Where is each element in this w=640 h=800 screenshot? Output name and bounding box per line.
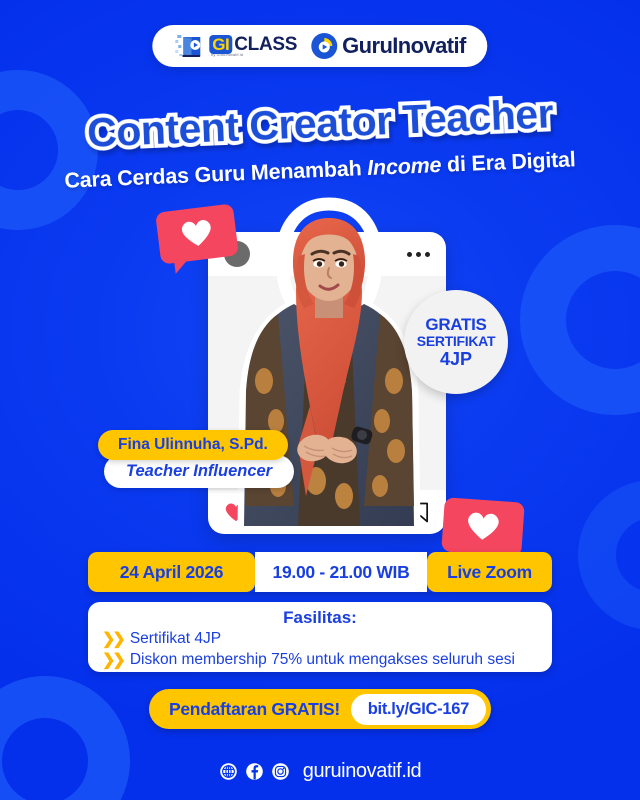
facility-item: ❯❯ Diskon membership 75% untuk mengakses…	[102, 650, 538, 670]
heart-icon	[178, 216, 215, 250]
poster-title: Content Creator Teacher	[86, 90, 554, 156]
free-certificate-badge: GRATIS SERTIFIKAT 4JP	[404, 290, 508, 394]
heart-bubble-bottom	[441, 497, 525, 556]
subtitle-part-2: di Era Digital	[441, 147, 576, 177]
facility-item-label: Diskon membership 75% untuk mengakses se…	[130, 651, 515, 669]
facilities-card: Fasilitas: ❯❯ Sertifikat 4JP ❯❯ Diskon m…	[88, 602, 552, 672]
guruinovatif-logo: GuruInovatif	[311, 33, 466, 59]
subtitle-italic-word: Income	[367, 153, 442, 180]
instagram-icon	[271, 762, 290, 781]
book-icon	[174, 33, 204, 59]
speaker-name: Fina Ulinnuha, S.Pd.	[98, 430, 288, 460]
registration-link[interactable]: bit.ly/GIC-167	[351, 694, 486, 725]
decorative-ring-right	[520, 225, 640, 415]
guruinovatif-wordmark: GuruInovatif	[342, 33, 466, 59]
badge-line-3: 4JP	[440, 349, 472, 369]
globe-icon	[219, 762, 238, 781]
heart-bubble-top	[155, 203, 239, 264]
event-mode: Live Zoom	[427, 552, 552, 592]
subtitle-part-1: Cara Cerdas Guru Menambah	[64, 156, 368, 193]
poster-canvas: GI CLASS by GuruInovatif.id GuruInovatif…	[0, 0, 640, 800]
facilities-title: Fasilitas:	[102, 608, 538, 628]
facility-item-label: Sertifikat 4JP	[130, 630, 221, 648]
giclass-class-word: CLASS	[234, 35, 297, 54]
giclass-tagline: by GuruInovatif.id	[211, 54, 297, 58]
double-chevron-icon: ❯❯	[102, 629, 123, 649]
badge-line-2: SERTIFIKAT	[417, 334, 495, 350]
decorative-ring-bottom-right	[578, 480, 640, 630]
facebook-icon	[245, 762, 264, 781]
badge-line-1: GRATIS	[425, 315, 486, 334]
heart-icon	[464, 509, 502, 543]
event-date: 24 April 2026	[88, 552, 255, 592]
giclass-gi-badge: GI	[209, 35, 232, 54]
social-handle: guruinovatif.id	[303, 760, 422, 783]
logo-bar: GI CLASS by GuruInovatif.id GuruInovatif	[152, 25, 487, 67]
giclass-wordmark: GI CLASS by GuruInovatif.id	[209, 35, 297, 58]
footer-bar: guruinovatif.id	[0, 760, 640, 783]
event-time: 19.00 - 21.00 WIB	[255, 552, 427, 592]
event-info-bar: 24 April 2026 19.00 - 21.00 WIB Live Zoo…	[88, 552, 552, 592]
facility-item: ❯❯ Sertifikat 4JP	[102, 629, 538, 649]
gi-circle-icon	[311, 33, 337, 59]
registration-bar[interactable]: Pendaftaran GRATIS! bit.ly/GIC-167	[149, 689, 491, 729]
double-chevron-icon: ❯❯	[102, 650, 123, 670]
headline-container: Content Creator Teacher	[0, 100, 640, 147]
decorative-ring-top-left	[0, 70, 98, 230]
registration-label: Pendaftaran GRATIS!	[169, 699, 340, 720]
giclass-logo: GI CLASS by GuruInovatif.id	[174, 33, 297, 59]
